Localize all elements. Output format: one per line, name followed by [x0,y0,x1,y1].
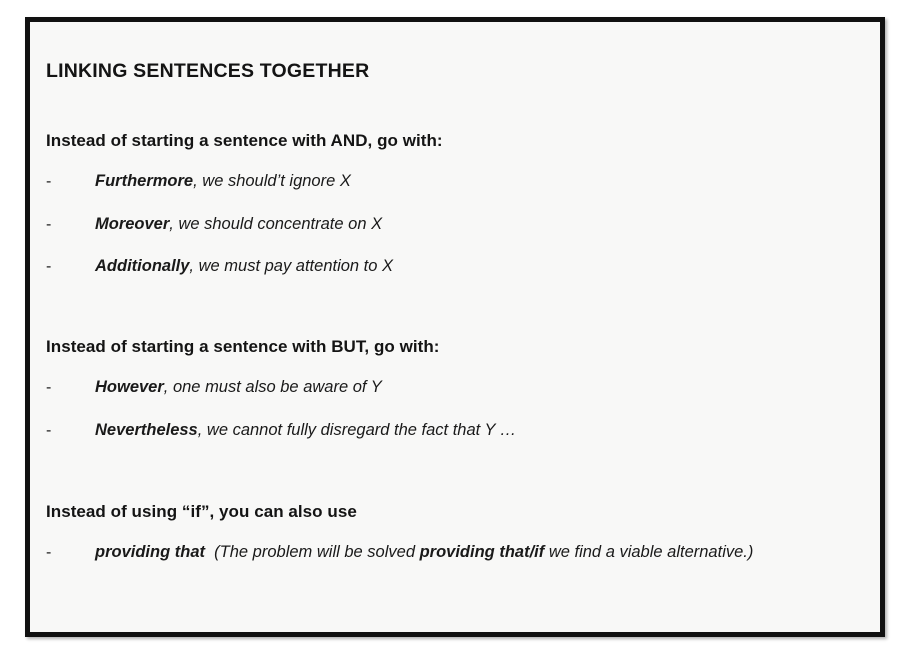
page-title: LINKING SENTENCES TOGETHER [46,44,854,83]
list-item: - providing that (The problem will be so… [42,542,854,563]
list-item-text: providing that (The problem will be solv… [95,542,753,563]
list-item-rest: , we should’t ignore X [193,172,351,190]
bullet-dash-icon: - [46,173,95,191]
list-item: - Moreover, we should concentrate on X [42,214,854,235]
slide-frame: LINKING SENTENCES TOGETHER Instead of st… [25,17,885,637]
bullet-list-if: - providing that (The problem will be so… [42,542,854,563]
section-but: Instead of starting a sentence with BUT,… [42,337,854,440]
slide-content: LINKING SENTENCES TOGETHER Instead of st… [30,22,880,632]
list-item-text: Nevertheless, we cannot fully disregard … [95,420,516,441]
bullet-dash-icon: - [46,422,95,440]
bullet-list-and: - Furthermore, we should’t ignore X - Mo… [42,171,854,277]
bullet-dash-icon: - [46,544,95,562]
section-and: Instead of starting a sentence with AND,… [42,131,854,277]
linking-keyword: However [95,378,164,396]
linking-keyword-inline: providing that/if [420,543,545,561]
list-item: - Nevertheless, we cannot fully disregar… [42,420,854,441]
bullet-dash-icon: - [46,258,95,276]
list-item: - Additionally, we must pay attention to… [42,256,854,277]
linking-keyword: providing that [95,543,205,561]
bullet-dash-icon: - [46,379,95,397]
linking-keyword: Nevertheless [95,421,198,439]
list-item-rest-tail: we find a viable alternative.) [544,543,753,561]
list-item: - Furthermore, we should’t ignore X [42,171,854,192]
section-if: Instead of using “if”, you can also use … [42,502,854,563]
list-item-rest: , one must also be aware of Y [164,378,382,396]
linking-keyword: Additionally [95,257,189,275]
list-item-text: Additionally, we must pay attention to X [95,256,393,277]
bullet-list-but: - However, one must also be aware of Y -… [42,377,854,440]
section-heading-if: Instead of using “if”, you can also use [46,502,854,522]
list-item-rest: , we should concentrate on X [169,215,382,233]
list-item-text: Moreover, we should concentrate on X [95,214,382,235]
list-item-rest: , we cannot fully disregard the fact tha… [198,421,517,439]
linking-keyword: Furthermore [95,172,193,190]
list-item-text: However, one must also be aware of Y [95,377,382,398]
section-heading-and: Instead of starting a sentence with AND,… [46,131,854,151]
section-heading-but: Instead of starting a sentence with BUT,… [46,337,854,357]
bullet-dash-icon: - [46,216,95,234]
list-item-rest: , we must pay attention to X [189,257,393,275]
linking-keyword: Moreover [95,215,169,233]
slide-canvas: LINKING SENTENCES TOGETHER Instead of st… [0,0,909,663]
list-item-text: Furthermore, we should’t ignore X [95,171,351,192]
list-item-rest: (The problem will be solved [205,543,420,561]
list-item: - However, one must also be aware of Y [42,377,854,398]
